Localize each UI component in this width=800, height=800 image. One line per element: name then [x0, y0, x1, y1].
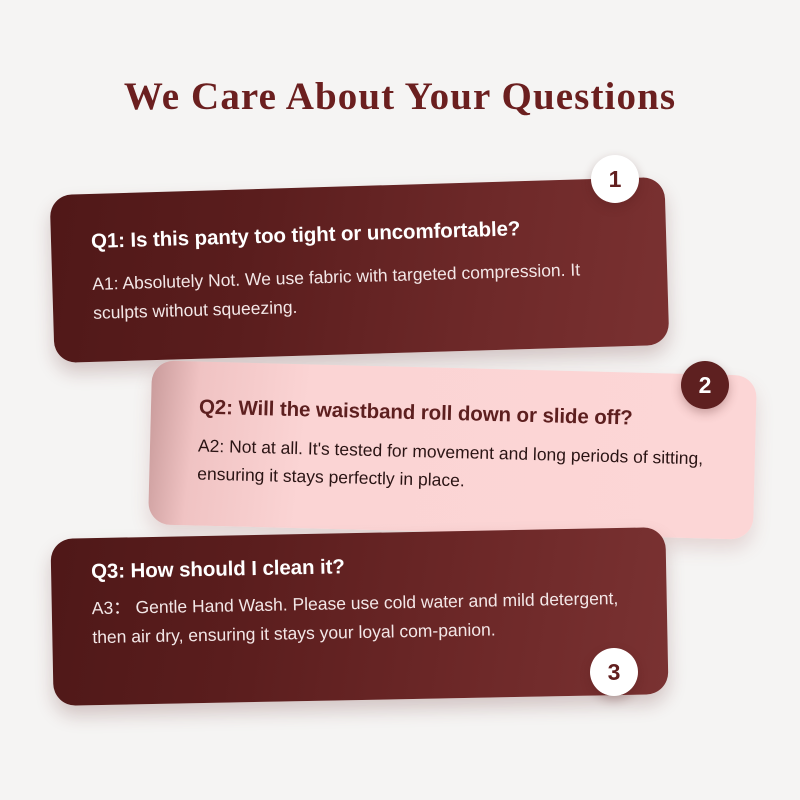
- faq-question-2: Q2: Will the waistband roll down or slid…: [199, 396, 633, 431]
- faq-badge-1: 1: [591, 155, 639, 203]
- faq-answer-3: A3： Gentle Hand Wash. Please use cold wa…: [92, 583, 658, 652]
- faq-answer-2: A2: Not at all. It's tested for movement…: [197, 432, 738, 502]
- faq-card-3[interactable]: Q3: How should I clean it? A3： Gentle Ha…: [50, 527, 668, 706]
- faq-badge-2: 2: [681, 361, 729, 409]
- faq-card-1[interactable]: Q1: Is this panty too tight or uncomfort…: [50, 177, 670, 363]
- faq-question-3: Q3: How should I clean it?: [91, 555, 345, 584]
- page-title: We Care About Your Questions: [0, 74, 800, 119]
- faq-section: We Care About Your Questions Q1: Is this…: [0, 0, 800, 800]
- faq-card-2[interactable]: Q2: Will the waistband roll down or slid…: [148, 360, 757, 539]
- faq-badge-3: 3: [590, 648, 638, 696]
- faq-answer-1: A1: Absolutely Not. We use fabric with t…: [92, 255, 613, 328]
- faq-question-1: Q1: Is this panty too tight or uncomfort…: [91, 217, 521, 254]
